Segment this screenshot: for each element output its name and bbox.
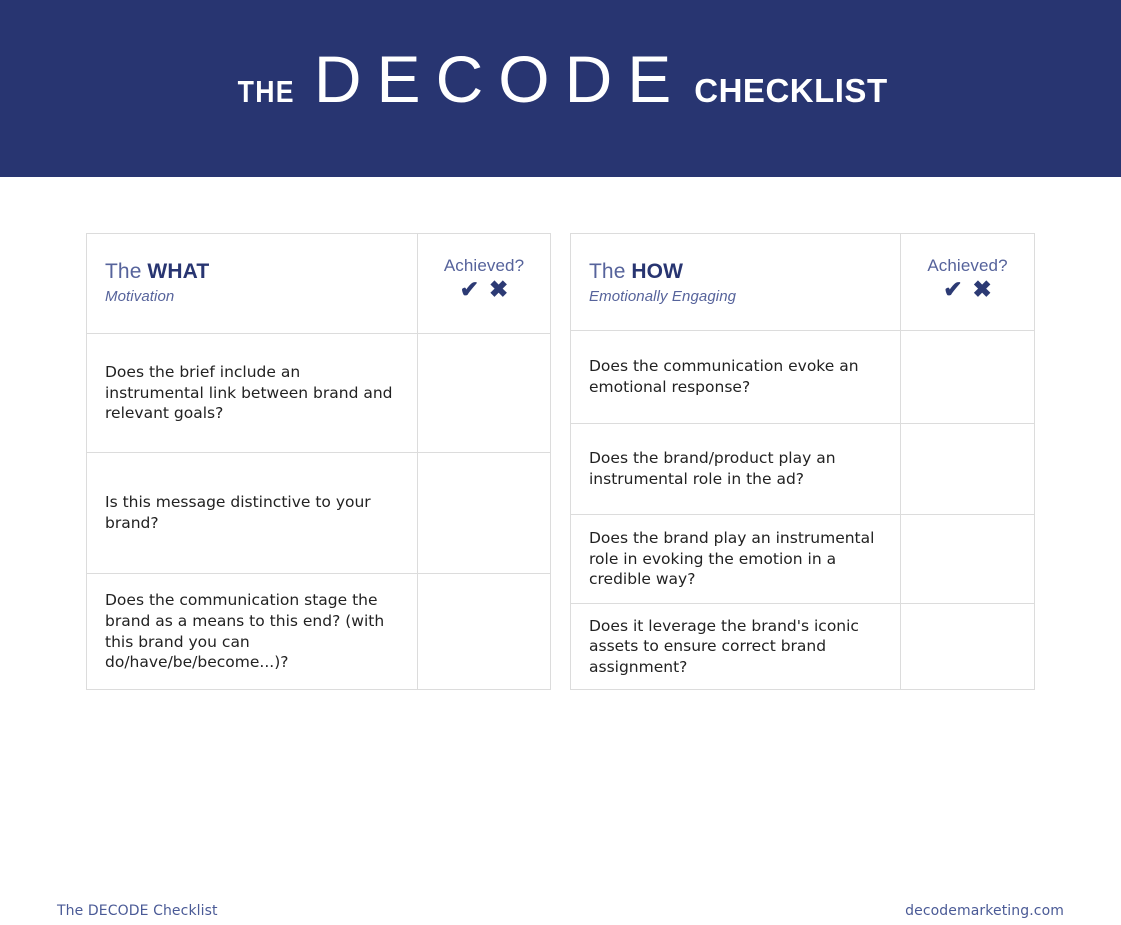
achieved-header-group: Achieved? ✔ ✖ bbox=[909, 256, 1026, 301]
question-text: Does the brand/product play an instrumen… bbox=[589, 448, 884, 489]
question-text: Is this message distinctive to your bran… bbox=[105, 492, 401, 533]
achieved-header-cell: Achieved? ✔ ✖ bbox=[901, 234, 1034, 330]
achieved-icon-group: ✔ ✖ bbox=[943, 278, 992, 301]
achieved-label: Achieved? bbox=[444, 256, 524, 276]
section-subtitle-how: Emotionally Engaging bbox=[589, 288, 736, 305]
question-text: Does the brief include an instrumental l… bbox=[105, 362, 401, 424]
section-title-what: The WHAT bbox=[105, 260, 209, 284]
check-icon[interactable]: ✔ bbox=[460, 278, 479, 301]
table-row: Does the brand/product play an instrumen… bbox=[571, 424, 1034, 515]
achieved-header-group: Achieved? ✔ ✖ bbox=[426, 256, 542, 301]
answer-cell[interactable] bbox=[418, 453, 550, 573]
question-cell: Does the communication evoke an emotiona… bbox=[571, 331, 901, 423]
question-text: Does the communication evoke an emotiona… bbox=[589, 356, 884, 397]
section-title-how: The HOW bbox=[589, 260, 683, 284]
page-header: THE DECODE CHECKLIST bbox=[0, 0, 1121, 177]
answer-cell[interactable] bbox=[901, 331, 1034, 423]
achieved-icon-group: ✔ ✖ bbox=[460, 278, 509, 301]
header-the-text: THE bbox=[238, 74, 295, 110]
answer-cell[interactable] bbox=[418, 574, 550, 689]
section-header-cell: The WHAT Motivation bbox=[87, 234, 418, 333]
cross-icon[interactable]: ✖ bbox=[973, 278, 992, 301]
achieved-header-cell: Achieved? ✔ ✖ bbox=[418, 234, 550, 333]
answer-cell[interactable] bbox=[901, 424, 1034, 514]
question-text: Does it leverage the brand's iconic asse… bbox=[589, 616, 884, 678]
cross-icon[interactable]: ✖ bbox=[489, 278, 508, 301]
question-cell: Does the brand play an instrumental role… bbox=[571, 515, 901, 603]
question-cell: Does the brief include an instrumental l… bbox=[87, 334, 418, 452]
table-row: Does the brand play an instrumental role… bbox=[571, 515, 1034, 604]
check-icon[interactable]: ✔ bbox=[943, 278, 962, 301]
footer-title: The DECODE Checklist bbox=[57, 903, 218, 919]
question-text: Does the communication stage the brand a… bbox=[105, 590, 401, 672]
answer-cell[interactable] bbox=[901, 515, 1034, 603]
question-cell: Does it leverage the brand's iconic asse… bbox=[571, 604, 901, 689]
table-row: Does the brief include an instrumental l… bbox=[87, 334, 550, 453]
table-row: Does it leverage the brand's iconic asse… bbox=[571, 604, 1034, 689]
question-cell: Does the brand/product play an instrumen… bbox=[571, 424, 901, 514]
section-title-strong: WHAT bbox=[147, 260, 209, 283]
section-header-cell: The HOW Emotionally Engaging bbox=[571, 234, 901, 330]
question-cell: Does the communication stage the brand a… bbox=[87, 574, 418, 689]
question-text: Does the brand play an instrumental role… bbox=[589, 528, 884, 590]
table-the-what: The WHAT Motivation Achieved? ✔ ✖ Does t… bbox=[86, 233, 551, 690]
table-row: Is this message distinctive to your bran… bbox=[87, 453, 550, 574]
section-title-prefix: The bbox=[105, 260, 147, 283]
achieved-label: Achieved? bbox=[927, 256, 1007, 276]
logo-lockup: THE DECODE CHECKLIST bbox=[233, 46, 887, 112]
answer-cell[interactable] bbox=[418, 334, 550, 452]
table-header-row: The HOW Emotionally Engaging Achieved? ✔… bbox=[571, 234, 1034, 331]
page-footer: The DECODE Checklist decodemarketing.com bbox=[0, 897, 1121, 925]
question-cell: Is this message distinctive to your bran… bbox=[87, 453, 418, 573]
answer-cell[interactable] bbox=[901, 604, 1034, 689]
section-title-prefix: The bbox=[589, 260, 631, 283]
table-header-row: The WHAT Motivation Achieved? ✔ ✖ bbox=[87, 234, 550, 334]
header-brand-decode: DECODE bbox=[314, 46, 686, 112]
table-the-how: The HOW Emotionally Engaging Achieved? ✔… bbox=[570, 233, 1035, 690]
table-row: Does the communication stage the brand a… bbox=[87, 574, 550, 689]
footer-website: decodemarketing.com bbox=[905, 903, 1064, 919]
section-subtitle-what: Motivation bbox=[105, 288, 174, 305]
table-row: Does the communication evoke an emotiona… bbox=[571, 331, 1034, 424]
header-checklist-text: CHECKLIST bbox=[694, 72, 887, 110]
checklist-sheet: The WHAT Motivation Achieved? ✔ ✖ Does t… bbox=[0, 177, 1121, 793]
section-title-strong: HOW bbox=[631, 260, 683, 283]
